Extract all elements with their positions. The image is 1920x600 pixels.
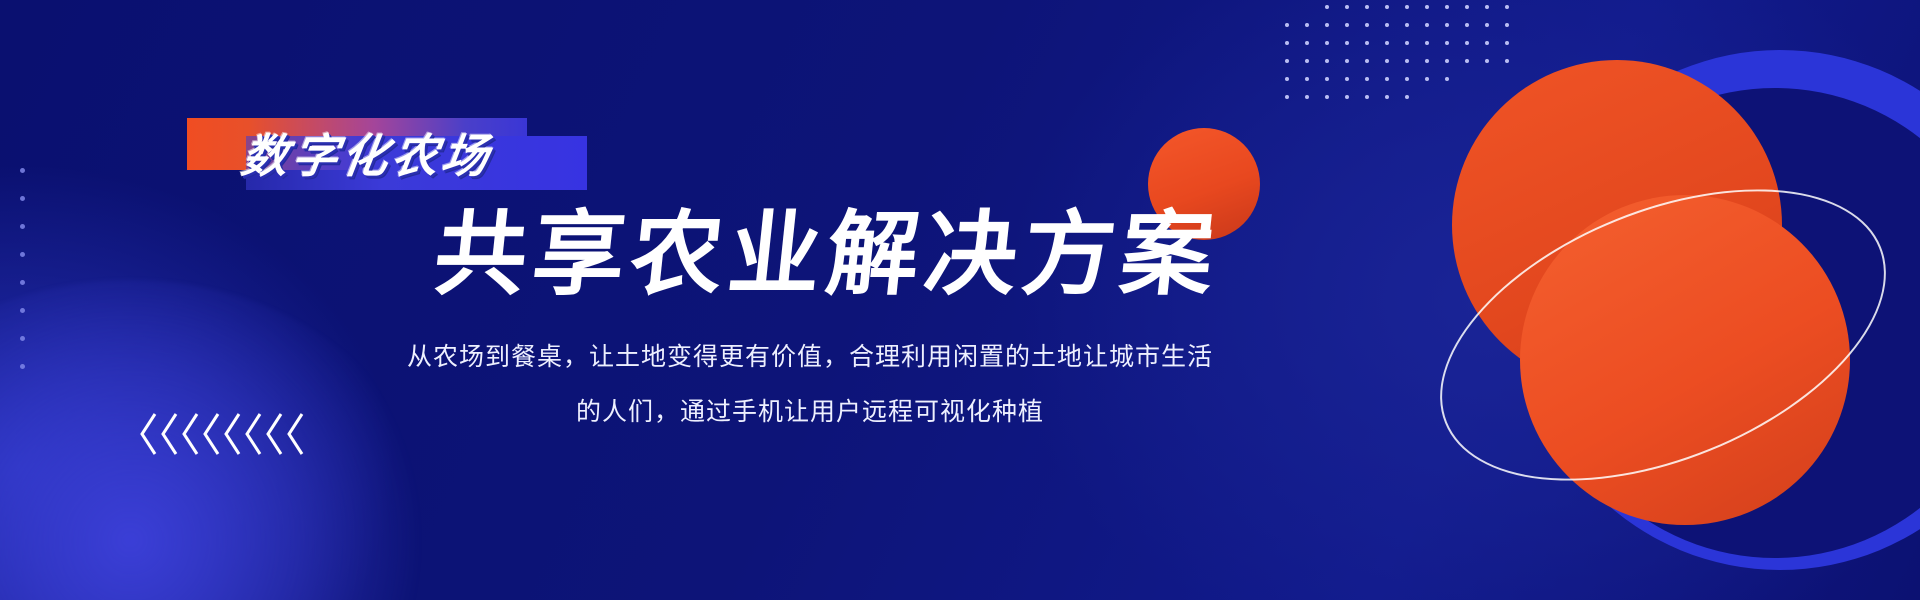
hero-banner: 数字化农场 共享农业解决方案 从农场到餐桌，让土地变得更有价值，合理利用闲置的土… <box>0 0 1920 600</box>
banner-content: 数字化农场 共享农业解决方案 从农场到餐桌，让土地变得更有价值，合理利用闲置的土… <box>0 0 1920 600</box>
subtitle-line-1: 从农场到餐桌，让土地变得更有价值，合理利用闲置的土地让城市生活 <box>290 330 1330 385</box>
badge: 数字化农场 <box>187 118 587 190</box>
page-title: 共享农业解决方案 <box>430 205 1225 305</box>
badge-label: 数字化农场 <box>238 128 606 184</box>
subtitle-block: 从农场到餐桌，让土地变得更有价值，合理利用闲置的土地让城市生活 的人们，通过手机… <box>290 330 1330 440</box>
subtitle-line-2: 的人们，通过手机让用户远程可视化种植 <box>290 385 1330 440</box>
